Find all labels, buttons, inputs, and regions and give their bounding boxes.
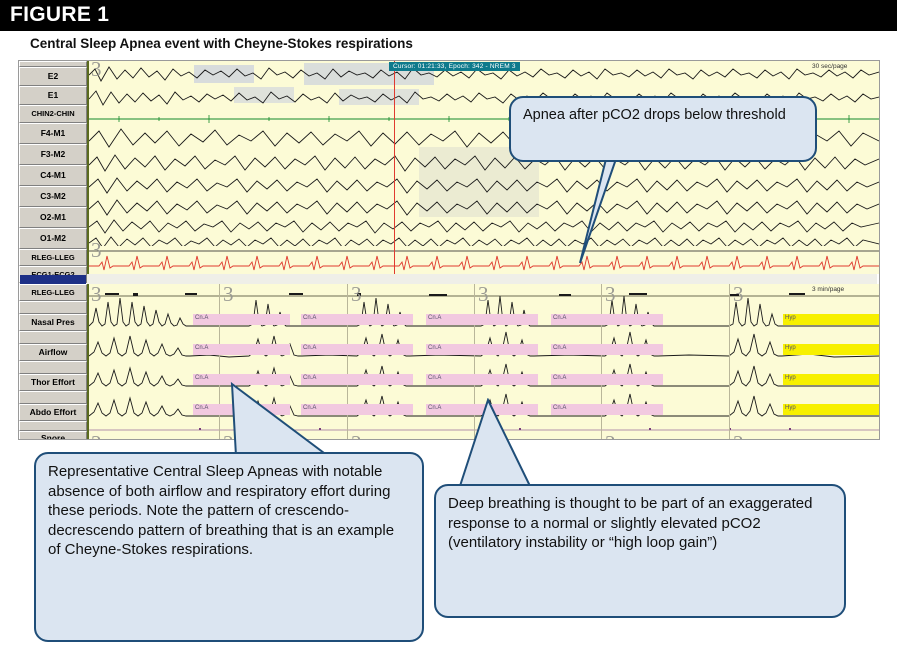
figure-number-label: FIGURE 1 xyxy=(10,3,109,27)
channel-label-nasal-pres[interactable]: Nasal Pres xyxy=(19,314,87,331)
sleep-stage-digit-spo2: 3 xyxy=(91,433,102,440)
event-central-apnea[interactable]: Cn.A xyxy=(193,344,290,355)
sleep-stage-digit-spo2: 3 xyxy=(605,433,616,440)
channel-label-o2m1[interactable]: O2-M1 xyxy=(19,207,87,228)
channel-label-c4m1[interactable]: C4-M1 xyxy=(19,165,87,186)
lower-channel-label-column: RLEG-LLEG Nasal Pres Airflow Thor Effort… xyxy=(19,284,87,439)
epoch-separator xyxy=(347,437,348,440)
callout-representative: Representative Central Sleep Apneas with… xyxy=(34,452,424,642)
sleep-stage-digit-lower: 3 xyxy=(91,284,102,305)
callout-apnea: Apnea after pCO2 drops below threshold xyxy=(509,96,817,162)
cursor-time-marker-ecg xyxy=(394,246,395,274)
sleep-stage-digit-lower: 3 xyxy=(223,284,234,305)
event-central-apnea[interactable]: Cn.A xyxy=(426,374,538,385)
sleep-stage-digit-lower: 3 xyxy=(605,284,616,305)
sleep-stage-digit-lower: 3 xyxy=(351,284,362,305)
figure-caption: Central Sleep Apnea event with Cheyne-St… xyxy=(30,36,413,51)
sleep-stage-digit-spo2: 3 xyxy=(351,433,362,440)
channel-label-c3m2[interactable]: C3-M2 xyxy=(19,186,87,207)
event-central-apnea[interactable]: Cn.A xyxy=(551,374,663,385)
sleep-stage-digit-lower: 3 xyxy=(478,284,489,305)
montage-divider-bar xyxy=(20,275,86,284)
label-spacer xyxy=(19,421,87,431)
sleep-stage-digit-lower: 3 xyxy=(733,284,744,305)
callout-representative-tail xyxy=(218,380,328,460)
channel-label-chin[interactable]: CHIN2-CHIN xyxy=(19,105,87,123)
upper-page-rate-label: 30 sec/page xyxy=(812,63,847,70)
channel-label-abdo-effort[interactable]: Abdo Effort xyxy=(19,404,87,421)
ecg-waveform xyxy=(89,246,879,274)
event-hypopnea[interactable]: Hyp xyxy=(783,344,880,355)
callout-deep-breathing-tail xyxy=(452,398,542,490)
channel-label-snore[interactable]: Snore xyxy=(19,431,87,440)
event-hypopnea[interactable]: Hyp xyxy=(783,374,880,385)
label-spacer xyxy=(19,361,87,374)
cursor-time-marker xyxy=(394,61,395,246)
event-central-apnea[interactable]: Cn.A xyxy=(426,314,538,325)
epoch-separator xyxy=(601,437,602,440)
upper-channel-label-column: E2 E1 CHIN2-CHIN F4-M1 F3-M2 C4-M1 C3-M2… xyxy=(19,61,87,274)
callout-deep-breathing-text: Deep breathing is thought to be part of … xyxy=(436,486,844,561)
channel-label-airflow[interactable]: Airflow xyxy=(19,344,87,361)
sleep-stage-digit-ecg: 3 xyxy=(91,240,102,261)
epoch-separator xyxy=(729,284,730,437)
channel-label-o1m2[interactable]: O1-M2 xyxy=(19,228,87,249)
event-central-apnea[interactable]: Cn.A xyxy=(551,314,663,325)
label-spacer xyxy=(19,391,87,404)
callout-apnea-tail xyxy=(538,155,618,265)
channel-label-e2[interactable]: E2 xyxy=(19,67,87,86)
sleep-stage-digit-spo2: 3 xyxy=(733,433,744,440)
channel-label-f4m1[interactable]: F4-M1 xyxy=(19,123,87,144)
channel-label-rleg-lower[interactable]: RLEG-LLEG xyxy=(19,284,87,301)
callout-apnea-text: Apnea after pCO2 drops below threshold xyxy=(511,98,815,133)
channel-label-f3m2[interactable]: F3-M2 xyxy=(19,144,87,165)
event-hypopnea[interactable]: Hyp xyxy=(783,314,880,325)
sleep-stage-digit-upper: 3 xyxy=(91,60,102,80)
epoch-separator xyxy=(729,437,730,440)
event-central-apnea[interactable]: Cn.A xyxy=(193,314,290,325)
callout-deep-breathing: Deep breathing is thought to be part of … xyxy=(434,484,846,618)
label-spacer xyxy=(19,331,87,344)
event-central-apnea[interactable]: Cn.A xyxy=(551,404,663,415)
label-spacer xyxy=(19,301,87,314)
channel-label-thor-effort[interactable]: Thor Effort xyxy=(19,374,87,391)
channel-label-rleg-upper[interactable]: RLEG-LLEG xyxy=(19,249,87,266)
lower-page-rate-label: 3 min/page xyxy=(812,286,844,293)
event-central-apnea[interactable]: Cn.A xyxy=(426,344,538,355)
event-central-apnea[interactable]: Cn.A xyxy=(551,344,663,355)
figure-header-bar: FIGURE 1 xyxy=(0,0,897,31)
event-central-apnea[interactable]: Cn.A xyxy=(301,314,413,325)
event-hypopnea[interactable]: Hyp xyxy=(783,404,880,415)
event-central-apnea[interactable]: Cn.A xyxy=(301,344,413,355)
channel-label-e1[interactable]: E1 xyxy=(19,86,87,105)
callout-representative-text: Representative Central Sleep Apneas with… xyxy=(36,454,422,568)
ecg-trace-canvas[interactable]: 3 xyxy=(87,246,879,274)
cursor-readout: Cursor: 01:21:33, Epoch: 342 - NREM 3 xyxy=(389,62,520,71)
